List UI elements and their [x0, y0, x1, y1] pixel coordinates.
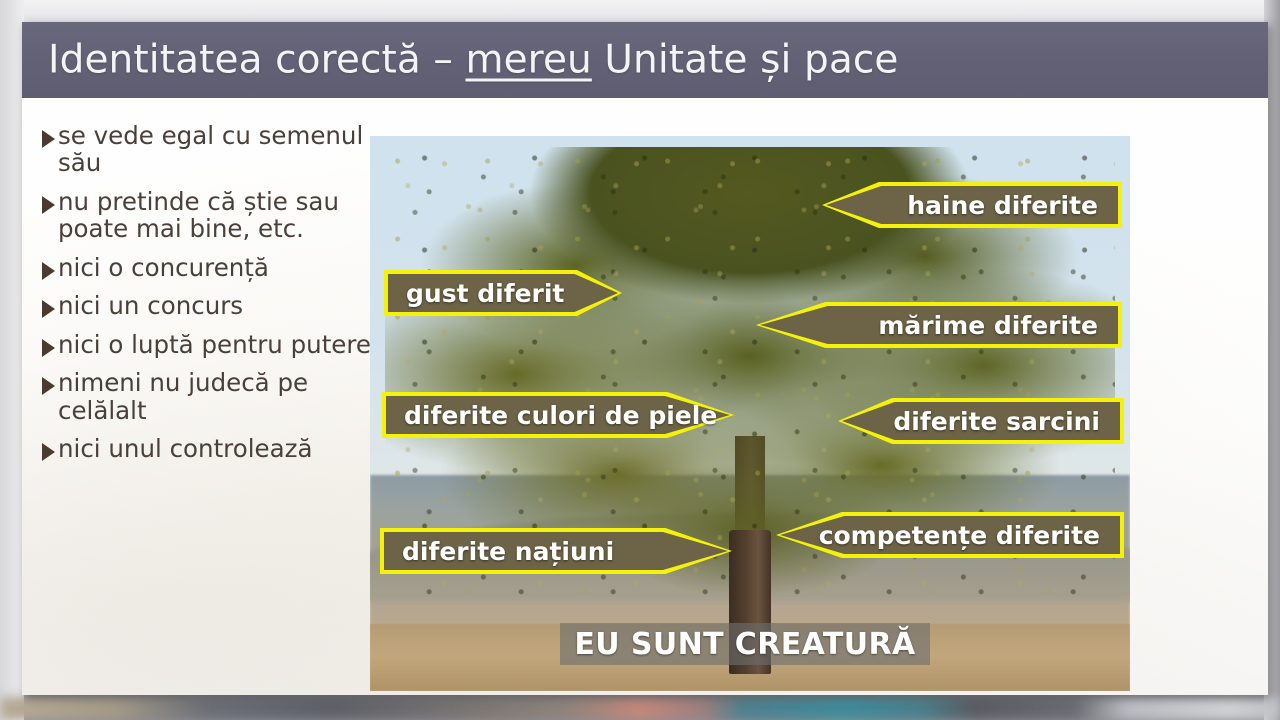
bullet-text: nici unul controlează — [58, 435, 372, 462]
list-item: nu pretinde că știe sau poate mai bine, … — [42, 188, 372, 243]
triangle-bullet-icon — [42, 130, 55, 148]
bullet-text: nici un concurs — [58, 292, 372, 319]
slide-viewer: Identitatea corectă – mereu Unitate și p… — [0, 0, 1280, 720]
presentation-slide: Identitatea corectă – mereu Unitate și p… — [22, 22, 1268, 695]
tree-photo: haine diferite gust diferit mărime difer… — [370, 136, 1130, 691]
page-title: Identitatea corectă – mereu Unitate și p… — [48, 38, 898, 83]
list-item: nici o luptă pentru putere — [42, 331, 372, 358]
callout-arrow-marime-diferite[interactable]: mărime diferite — [756, 302, 1122, 348]
callout-label: diferite națiuni — [402, 537, 614, 566]
list-item: nici o concurență — [42, 254, 372, 281]
callout-label: haine diferite — [907, 191, 1098, 220]
title-part-before: Identitatea corectă – — [48, 38, 465, 83]
title-part-after: Unitate și pace — [592, 38, 899, 83]
callout-label: gust diferit — [406, 279, 564, 308]
background-blurred-strip — [0, 697, 1280, 720]
list-item: se vede egal cu semenul său — [42, 122, 372, 177]
callout-arrow-haine-diferite[interactable]: haine diferite — [822, 182, 1122, 228]
bullet-text: nu pretinde că știe sau poate mai bine, … — [58, 188, 372, 243]
triangle-bullet-icon — [42, 443, 55, 461]
title-emphasis-mereu: mereu — [465, 38, 591, 83]
triangle-bullet-icon — [42, 300, 55, 318]
bullet-text: nici o concurență — [58, 254, 372, 281]
list-item: nici unul controlează — [42, 435, 372, 462]
slide-title-bar: Identitatea corectă – mereu Unitate și p… — [22, 22, 1268, 98]
callout-arrow-diferite-culori-de-piele[interactable]: diferite culori de piele — [382, 392, 734, 438]
bullet-list: se vede egal cu semenul său nu pretinde … — [42, 122, 372, 473]
callout-arrow-competente-diferite[interactable]: competențe diferite — [776, 512, 1124, 558]
callout-arrow-diferite-sarcini[interactable]: diferite sarcini — [838, 398, 1124, 444]
callout-label: mărime diferite — [878, 311, 1098, 340]
triangle-bullet-icon — [42, 262, 55, 280]
list-item: nici un concurs — [42, 292, 372, 319]
callout-label: diferite sarcini — [893, 407, 1100, 436]
background-left-edge — [0, 0, 24, 720]
triangle-bullet-icon — [42, 339, 55, 357]
bullet-text: nici o luptă pentru putere — [58, 331, 372, 358]
bullet-text: se vede egal cu semenul său — [58, 122, 372, 177]
callout-label: diferite culori de piele — [404, 401, 717, 430]
photo-caption-band: EU SUNT CREATURĂ — [560, 623, 930, 665]
triangle-bullet-icon — [42, 377, 55, 395]
callout-label: competențe diferite — [819, 521, 1100, 550]
photo-caption-text: EU SUNT CREATURĂ — [574, 627, 915, 662]
bullet-text: nimeni nu judecă pe celălalt — [58, 369, 372, 424]
triangle-bullet-icon — [42, 196, 55, 214]
callout-arrow-gust-diferit[interactable]: gust diferit — [384, 270, 622, 316]
list-item: nimeni nu judecă pe celălalt — [42, 369, 372, 424]
callout-arrow-diferite-natiuni[interactable]: diferite națiuni — [380, 528, 732, 574]
